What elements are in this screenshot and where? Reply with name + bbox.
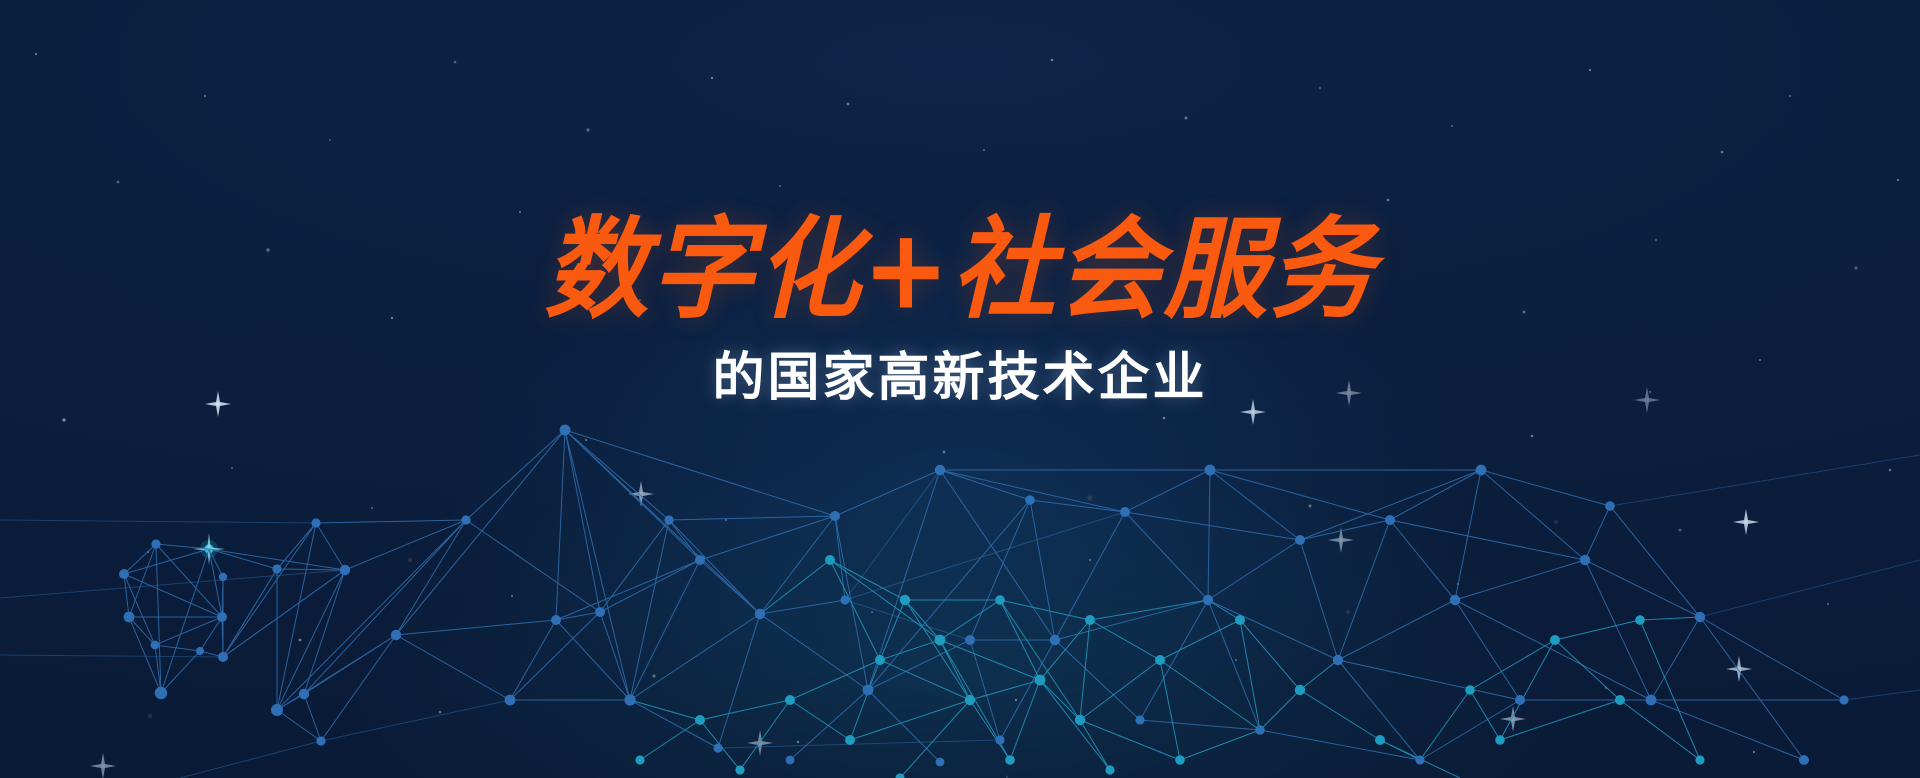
page-title: 数字化+社会服务 bbox=[0, 213, 1920, 325]
page-subtitle: 的国家高新技术企业 bbox=[0, 335, 1920, 410]
banner-root: 数字化+社会服务 的国家高新技术企业 bbox=[0, 0, 1920, 778]
banner-text-block: 数字化+社会服务 的国家高新技术企业 bbox=[0, 213, 1920, 410]
